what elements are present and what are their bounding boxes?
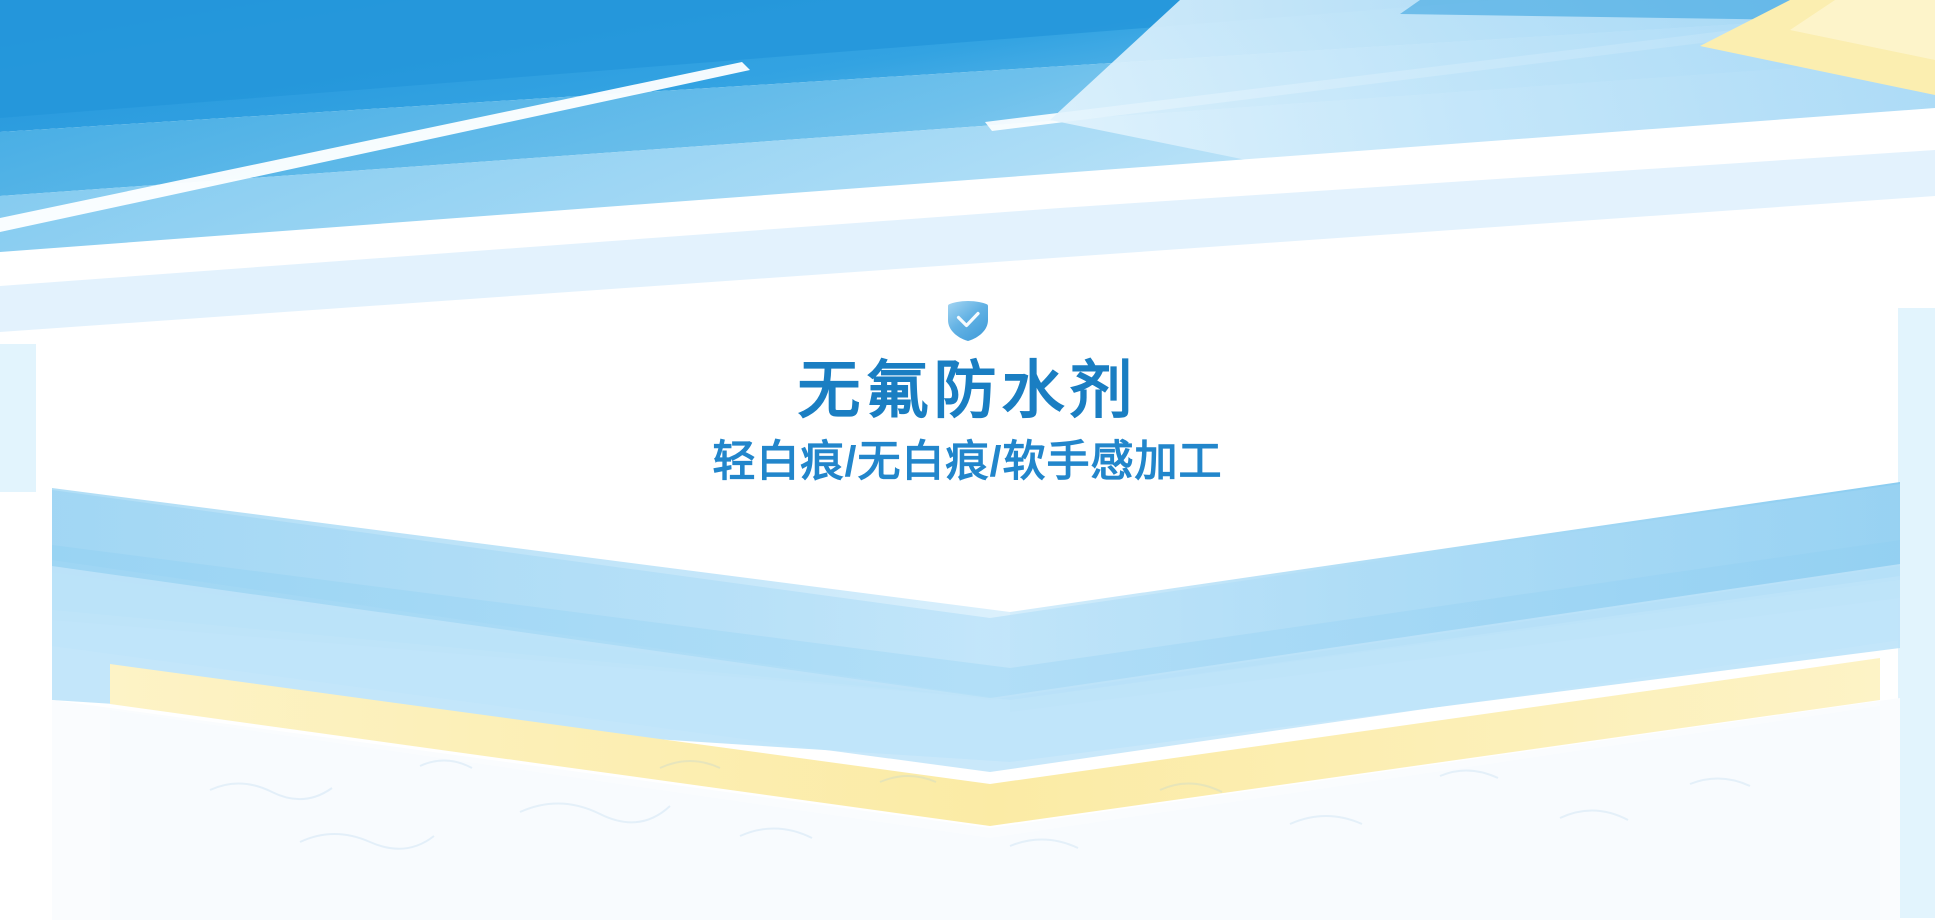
page-title: 无氟防水剂 <box>798 358 1138 425</box>
hero-banner: 无氟防水剂 轻白痕/无白痕/软手感加工 <box>0 0 1935 920</box>
right-edge-cyan-strip <box>1898 308 1935 918</box>
left-edge-cyan-strip <box>0 344 36 492</box>
page-subtitle: 轻白痕/无白痕/软手感加工 <box>713 439 1223 486</box>
shield-check-icon <box>946 300 990 342</box>
